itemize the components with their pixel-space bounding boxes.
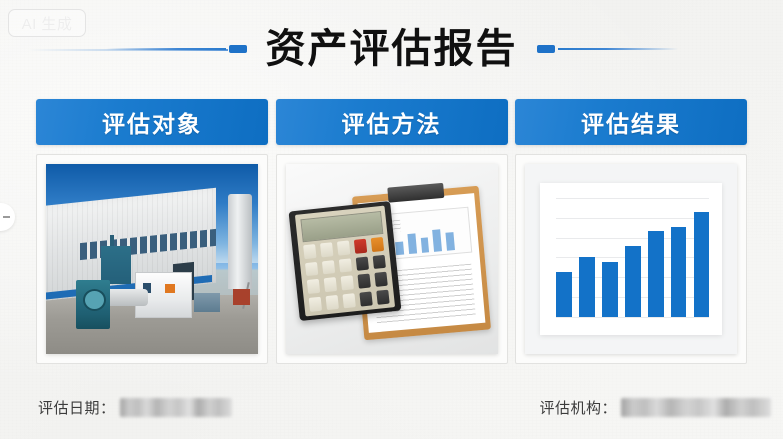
card-body-assessment-result xyxy=(515,154,747,364)
photo-red-equipment xyxy=(233,289,250,304)
card-body-assessment-method xyxy=(276,154,508,364)
card-assessment-result: 评估结果 xyxy=(515,99,747,364)
photo-calculator-key xyxy=(308,297,322,312)
title-decoration-right xyxy=(534,44,678,54)
photo-calculator-key xyxy=(304,261,318,276)
photo-calculator-face xyxy=(295,206,395,316)
photo-press-machine xyxy=(101,246,131,284)
photo-machine-panel xyxy=(165,284,176,294)
page-title-row: 资产评估报告 xyxy=(0,18,783,80)
ai-generated-badge-label: AI 生成 xyxy=(22,13,73,34)
photo-calculator-key xyxy=(354,238,368,253)
card-assessment-method: 评估方法 xyxy=(276,99,508,364)
chevron-left-icon xyxy=(3,216,10,218)
photo-calculator-key xyxy=(355,256,369,271)
title-decoration-left xyxy=(106,44,250,54)
photo-calculator xyxy=(288,201,401,321)
bar-chart-bar xyxy=(671,227,687,317)
card-header-assessment-result[interactable]: 评估结果 xyxy=(515,99,747,145)
card-header-label: 评估方法 xyxy=(342,105,442,139)
decoration-dash-right xyxy=(537,45,555,53)
bar-chart-graphic xyxy=(525,164,737,354)
photo-calculator-key xyxy=(376,289,390,304)
footer-org-label: 评估机构： xyxy=(539,397,617,418)
photo-calculator-key xyxy=(323,277,337,292)
photo-calculator-key xyxy=(371,237,385,252)
card-header-label: 评估结果 xyxy=(581,105,681,139)
footer-date-value-redacted xyxy=(120,398,232,417)
content-card-row: 评估对象 xyxy=(36,99,747,364)
card-header-assessment-method[interactable]: 评估方法 xyxy=(276,99,508,145)
footer-assessment-date: 评估日期： xyxy=(38,397,232,418)
photo-calculator-key xyxy=(374,272,388,287)
bar-chart-plot-area xyxy=(556,198,709,317)
photo-crates xyxy=(194,293,219,312)
bar-chart-gridline xyxy=(556,317,709,318)
photo-paper-bar xyxy=(445,232,454,250)
page-title: 资产评估报告 xyxy=(250,29,534,69)
card-body-assessment-object xyxy=(36,154,268,364)
factory-plant-photo xyxy=(46,164,258,354)
bar-chart-bars xyxy=(556,198,709,317)
card-assessment-object: 评估对象 xyxy=(36,99,268,364)
bar-chart-bar xyxy=(694,212,710,316)
photo-calculator-key xyxy=(357,274,371,289)
card-header-label: 评估对象 xyxy=(102,105,202,139)
photo-teal-machine xyxy=(76,280,110,329)
bar-chart-bar xyxy=(625,246,641,317)
bar-chart-bar xyxy=(579,257,595,316)
photo-calculator-key xyxy=(306,279,320,294)
photo-paper-bar xyxy=(407,233,417,253)
bar-chart-bar xyxy=(602,262,618,317)
calculator-clipboard-photo xyxy=(286,164,498,354)
bar-chart-bar xyxy=(648,231,664,316)
photo-paper-bar xyxy=(395,241,404,255)
card-header-assessment-object[interactable]: 评估对象 xyxy=(36,99,268,145)
footer-assessment-org: 评估机构： xyxy=(539,397,771,418)
slide-prev-nub[interactable] xyxy=(0,203,15,231)
photo-calculator-key xyxy=(337,240,351,255)
decoration-line-left xyxy=(106,48,226,50)
photo-paper-bar xyxy=(432,229,442,252)
slide-footer: 评估日期： 评估机构： xyxy=(0,395,783,425)
photo-calculator-key xyxy=(359,291,373,306)
photo-calculator-key xyxy=(320,242,334,257)
photo-silo xyxy=(228,194,251,289)
photo-calculator-key xyxy=(325,295,339,310)
ai-generated-badge: AI 生成 xyxy=(8,9,86,37)
photo-cylinder-unit xyxy=(105,289,147,306)
photo-calculator-key xyxy=(338,258,352,273)
photo-calculator-key xyxy=(340,275,354,290)
bar-chart-canvas xyxy=(540,183,722,335)
decoration-dash-left xyxy=(229,45,247,53)
bar-chart-bar xyxy=(556,272,572,317)
footer-org-value-redacted xyxy=(621,398,771,417)
photo-calculator-keypad xyxy=(303,237,390,312)
photo-calculator-key xyxy=(342,293,356,308)
slide-canvas: AI 生成 资产评估报告 评估对象 xyxy=(0,0,783,439)
photo-calculator-key xyxy=(321,259,335,274)
photo-calculator-key xyxy=(372,254,386,269)
footer-date-label: 评估日期： xyxy=(38,397,116,418)
photo-paper-bar xyxy=(420,237,429,253)
photo-calculator-key xyxy=(303,244,317,259)
decoration-line-right xyxy=(558,48,678,50)
